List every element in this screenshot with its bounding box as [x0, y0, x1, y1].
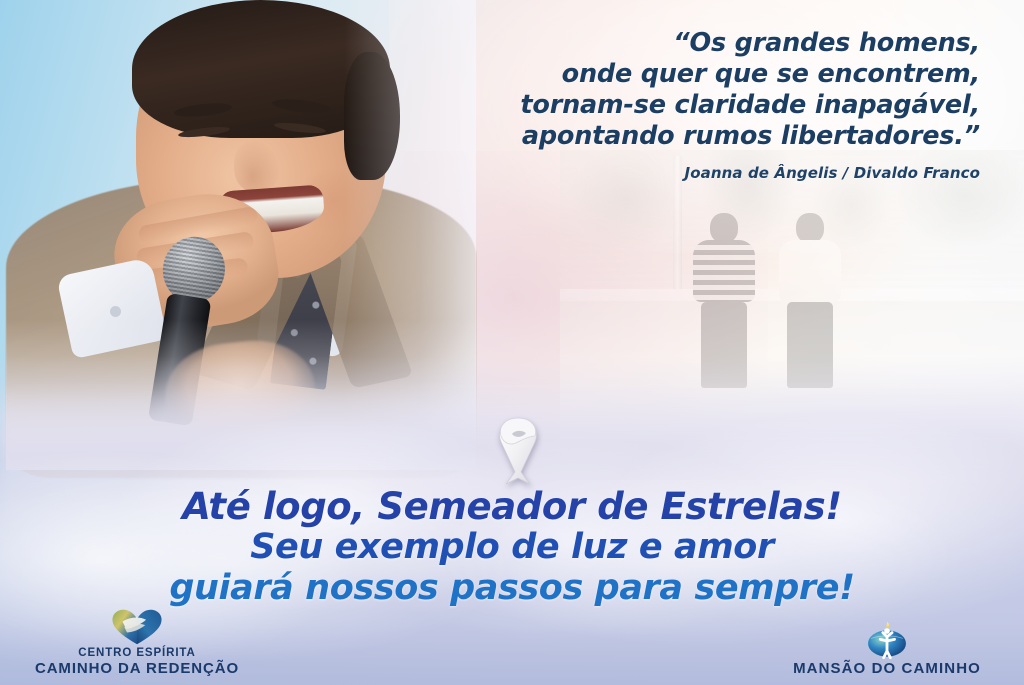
portrait-cuff-button [110, 306, 121, 317]
memorial-poster: “Os grandes homens, onde quer que se enc… [0, 0, 1024, 685]
logo-mansao-do-caminho: MANSÃO DO CAMINHO [758, 622, 1016, 677]
headline-line-2: Seu exemplo de luz e amor [0, 527, 1024, 568]
headline-line-1: Até logo, Semeador de Estrelas! [0, 486, 1024, 527]
logo-right-text: MANSÃO DO CAMINHO [758, 660, 1016, 677]
quote-attribution: Joanna de Ângelis / Divaldo Franco [420, 164, 980, 182]
logo-right-line-1: MANSÃO DO CAMINHO [758, 660, 1016, 677]
headline-block: Até logo, Semeador de Estrelas! Seu exem… [0, 486, 1024, 609]
heart-hands-icon [8, 609, 266, 647]
headline-line-3: guiará nossos passos para sempre! [0, 568, 1024, 609]
quote-line-4: apontando rumos libertadores.” [420, 121, 980, 152]
quote-block: “Os grandes homens, onde quer que se enc… [420, 28, 980, 182]
logo-left-line-1: CENTRO ESPÍRITA [8, 647, 266, 659]
quote-line-3: tornam-se claridade inapagável, [420, 90, 980, 121]
portrait-hair-side [344, 52, 400, 180]
globe-figure-icon [758, 622, 1016, 660]
mourning-ribbon-icon [484, 406, 552, 488]
quote-line-1: “Os grandes homens, [420, 28, 980, 59]
logo-left-line-2: CAMINHO DA REDENÇÃO [8, 660, 266, 677]
logo-left-text: CENTRO ESPÍRITA CAMINHO DA REDENÇÃO [8, 647, 266, 677]
logo-centro-espirita: CENTRO ESPÍRITA CAMINHO DA REDENÇÃO [8, 609, 266, 677]
portrait-nose [234, 140, 280, 192]
quote-line-2: onde quer que se encontrem, [420, 59, 980, 90]
